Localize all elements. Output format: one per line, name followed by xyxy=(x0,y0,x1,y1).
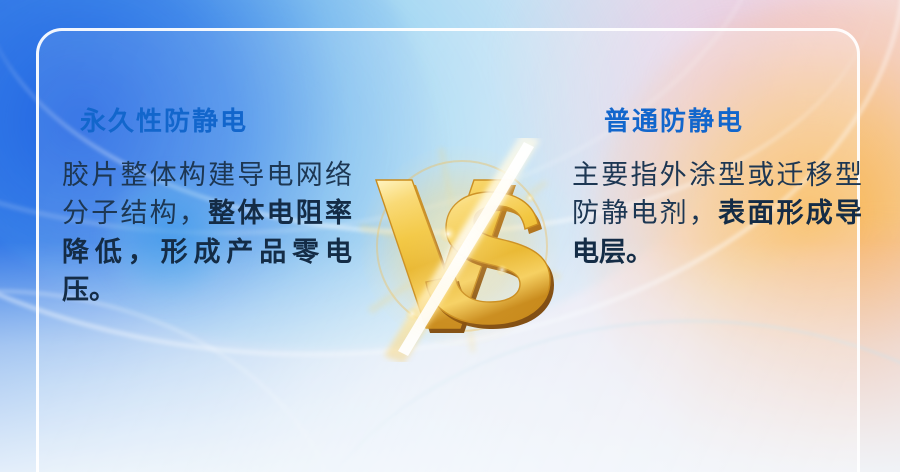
vs-gold-letters xyxy=(352,138,568,362)
vs-badge: VS xyxy=(352,138,568,362)
comparison-banner: 永久性防静电 胶片整体构建导电网络分子结构，整体电阻率降低，形成产品零电压。 普… xyxy=(0,0,900,472)
column-heading-left: 永久性防静电 xyxy=(62,108,352,134)
column-heading-right: 普通防静电 xyxy=(572,108,862,134)
column-ordinary-antistatic: 普通防静电 主要指外涂型或迁移型防静电剂，表面形成导电层。 xyxy=(572,108,862,271)
column-body-left: 胶片整体构建导电网络分子结构，整体电阻率降低，形成产品零电压。 xyxy=(62,156,352,309)
column-body-right: 主要指外涂型或迁移型防静电剂，表面形成导电层。 xyxy=(572,156,862,271)
column-permanent-antistatic: 永久性防静电 胶片整体构建导电网络分子结构，整体电阻率降低，形成产品零电压。 xyxy=(62,108,352,309)
